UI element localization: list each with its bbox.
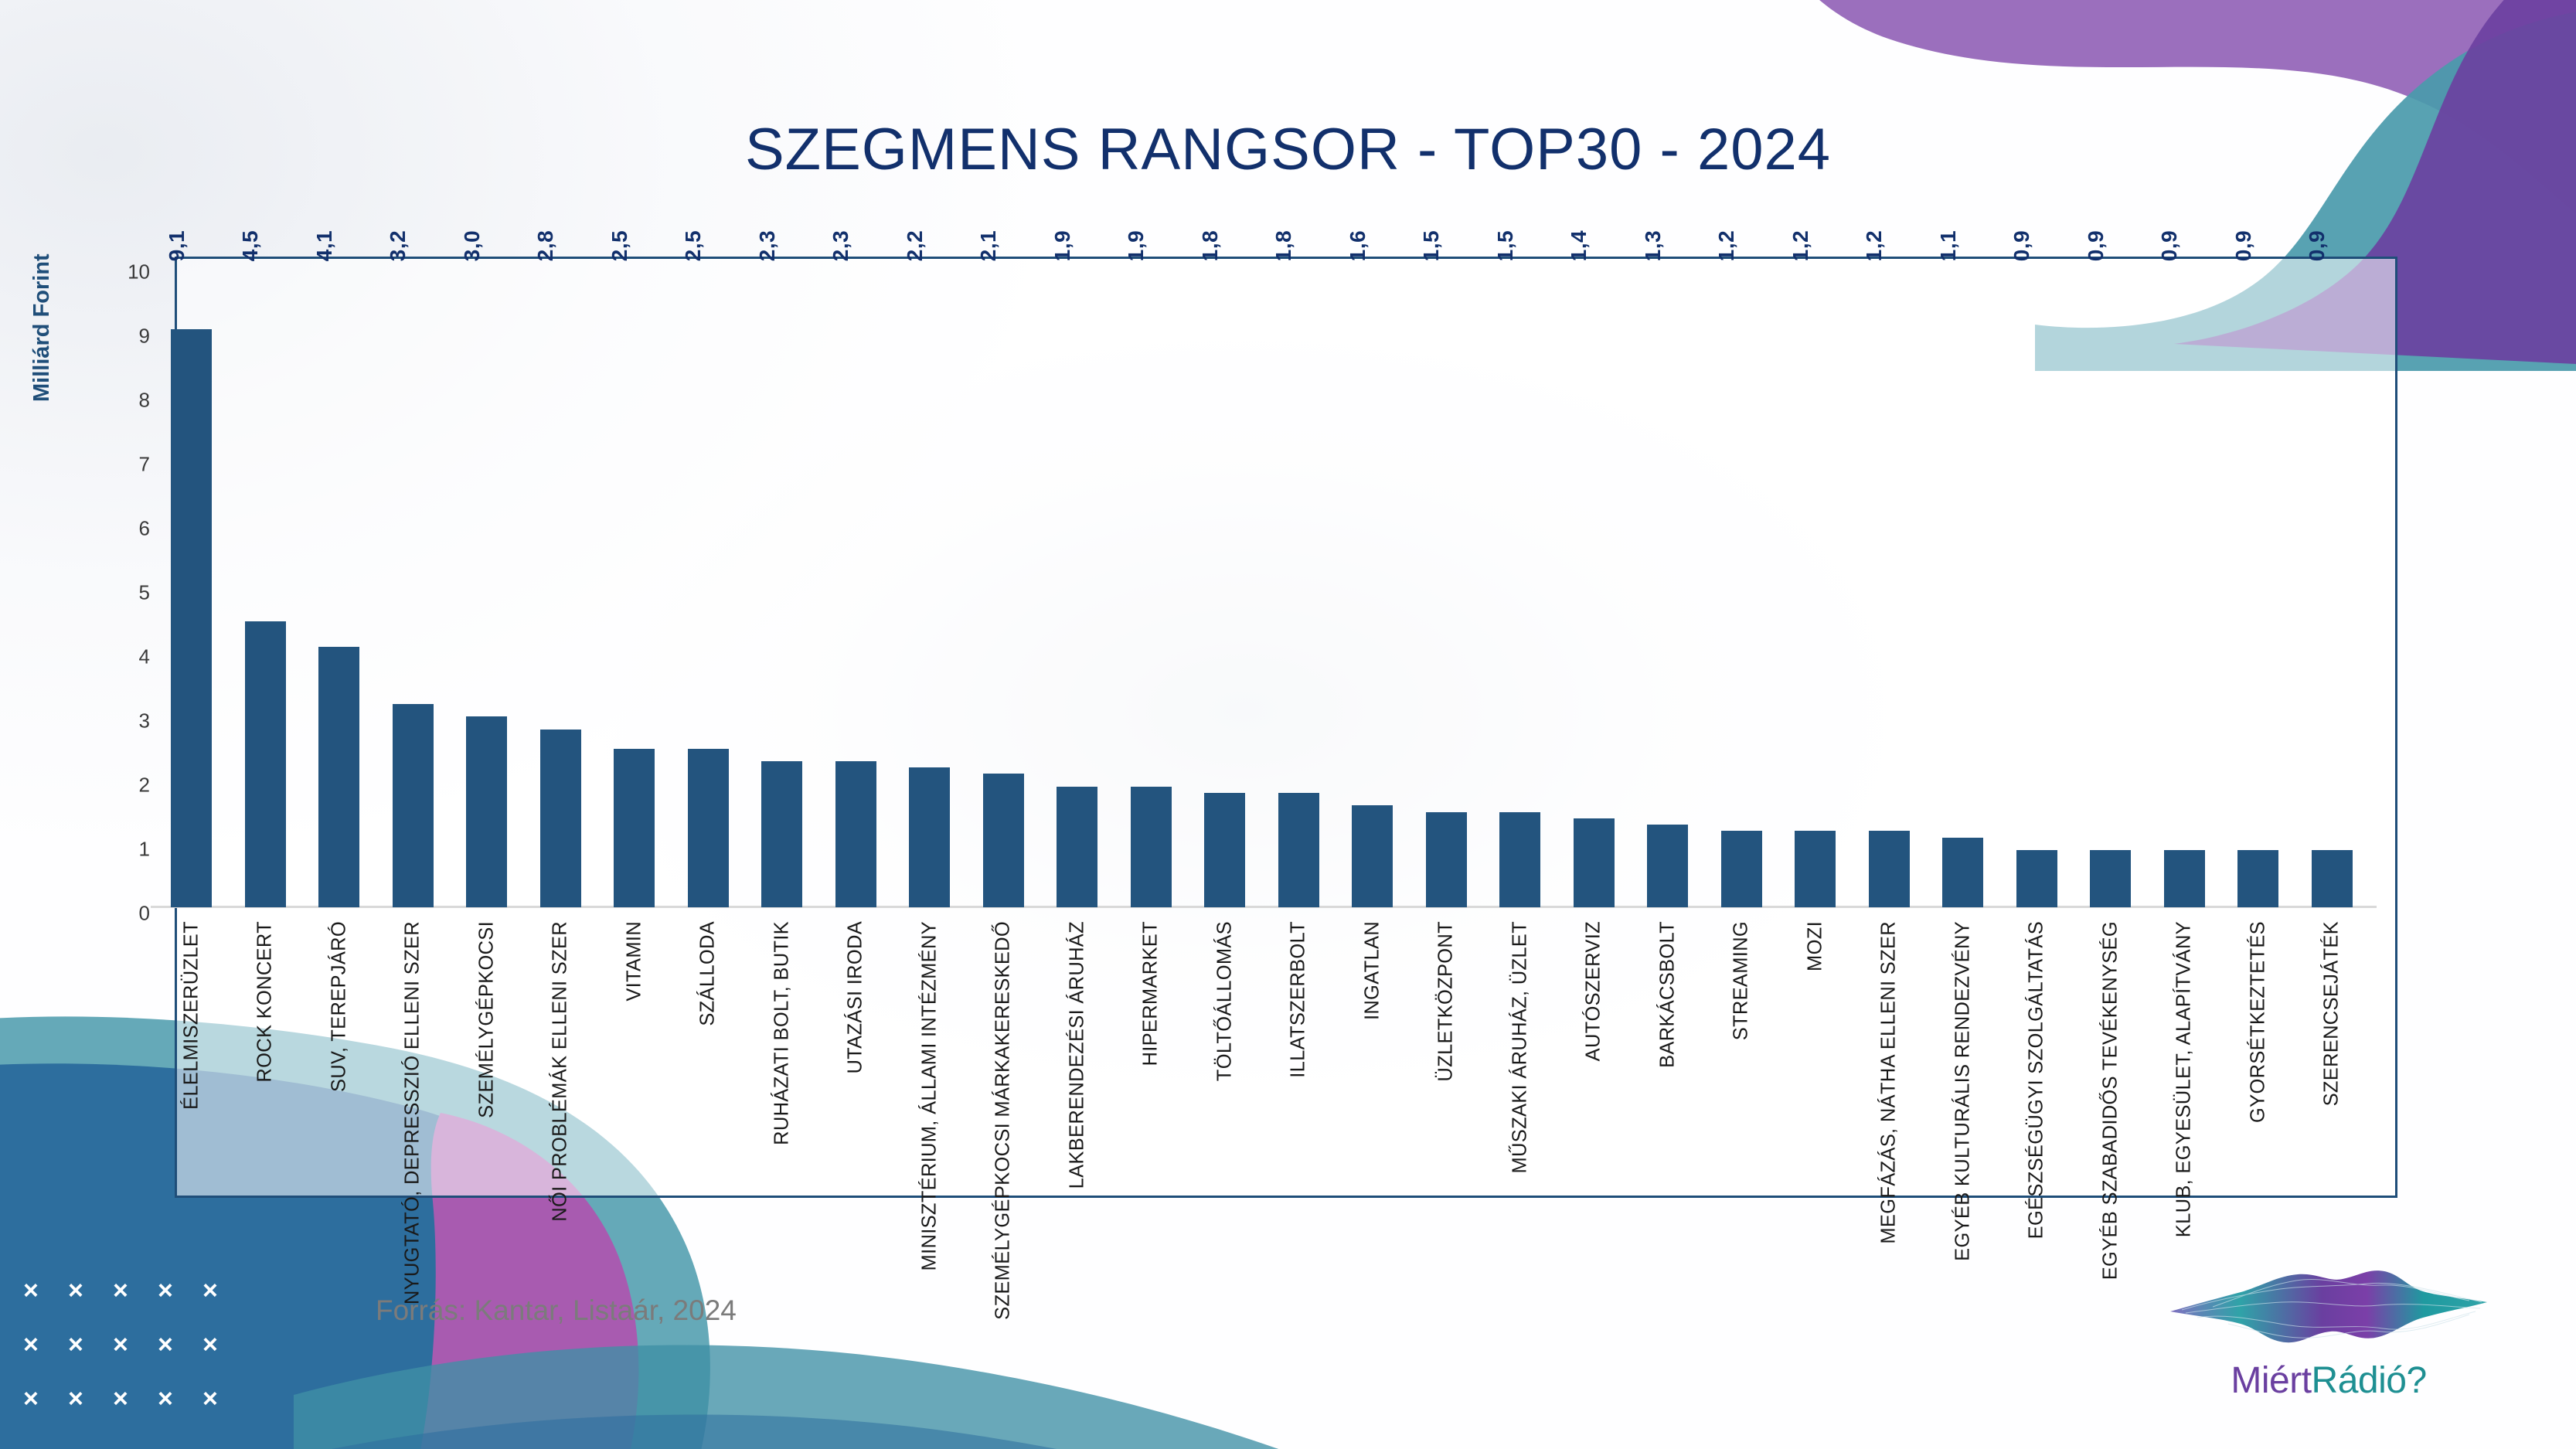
bar-slot: 3,0 xyxy=(450,272,524,907)
x-mark: × xyxy=(113,1318,158,1372)
bar[interactable]: 1,5 xyxy=(1426,812,1467,907)
category-label: ILLATSZERBOLT xyxy=(1288,921,1310,1078)
category-slot: SZEMÉLYGÉPKOCSI MÁRKAKERESKEDŐ xyxy=(967,915,1041,1240)
bar-value-label: 0,9 xyxy=(2305,230,2329,261)
category-label: EGYÉB KULTURÁLIS RENDEZVÉNY xyxy=(1952,921,1974,1261)
category-label: ROCK KONCERT xyxy=(254,921,277,1083)
x-mark: × xyxy=(113,1372,158,1426)
category-slot: SZEMÉLYGÉPKOCSI xyxy=(450,915,524,1240)
bar[interactable]: 1,6 xyxy=(1352,805,1393,907)
category-label: MOZI xyxy=(1804,921,1826,971)
bar-slot: 1,2 xyxy=(1778,272,1853,907)
x-mark: × xyxy=(23,1318,68,1372)
bar[interactable]: 1,9 xyxy=(1057,787,1097,907)
bar[interactable]: 2,5 xyxy=(614,749,655,908)
bar-value-label: 1,8 xyxy=(1271,230,1296,261)
bar-slot: 4,5 xyxy=(229,272,303,907)
bar[interactable]: 1,3 xyxy=(1647,825,1688,907)
x-mark: × xyxy=(23,1264,68,1318)
category-slot: NYUGTATÓ, DEPRESSZIÓ ELLENI SZER xyxy=(376,915,451,1240)
bar[interactable]: 0,9 xyxy=(2090,850,2131,907)
bar-slot: 2,5 xyxy=(672,272,746,907)
category-label: MINISZTÉRIUM, ÁLLAMI INTÉZMÉNY xyxy=(918,921,941,1270)
bar-slot: 1,5 xyxy=(1410,272,1484,907)
bar-value-label: 2,8 xyxy=(533,230,558,261)
bar[interactable]: 0,9 xyxy=(2312,850,2353,907)
y-axis-tick-label: 3 xyxy=(88,709,150,733)
bar-value-label: 2,2 xyxy=(903,230,927,261)
bar-value-label: 1,4 xyxy=(1567,230,1591,261)
x-mark: × xyxy=(202,1372,247,1426)
x-mark: × xyxy=(68,1264,113,1318)
x-marks-grid: × × × × × × × × × × × × × × × xyxy=(23,1264,247,1426)
bar[interactable]: 2,1 xyxy=(983,774,1024,907)
y-axis-label: Milliárd Forint xyxy=(29,253,55,402)
category-label: SZÁLLODA xyxy=(697,921,720,1026)
category-label: SZEMÉLYGÉPKOCSI MÁRKAKERESKEDŐ xyxy=(992,921,1015,1320)
bar-value-label: 1,2 xyxy=(1788,230,1813,261)
category-slot: LAKBERENDEZÉSI ÁRUHÁZ xyxy=(1040,915,1114,1240)
bar-value-label: 4,5 xyxy=(238,230,263,261)
bar-value-label: 1,1 xyxy=(1936,230,1961,261)
x-mark: × xyxy=(113,1264,158,1318)
bar-slot: 1,9 xyxy=(1040,272,1114,907)
category-slot: SZÁLLODA xyxy=(672,915,746,1240)
logo-text-radio: Rádió? xyxy=(2312,1360,2427,1401)
bar[interactable]: 1,5 xyxy=(1499,812,1540,907)
category-label: LAKBERENDEZÉSI ÁRUHÁZ xyxy=(1066,921,1088,1189)
bar-slot: 1,2 xyxy=(1705,272,1779,907)
bar-value-label: 2,5 xyxy=(607,230,632,261)
category-label: RUHÁZATI BOLT, BUTIK xyxy=(771,921,793,1145)
bar-value-label: 3,2 xyxy=(386,230,410,261)
bar-slot: 1,2 xyxy=(1853,272,1927,907)
category-slot: ROCK KONCERT xyxy=(229,915,303,1240)
y-axis-tick-label: 7 xyxy=(88,453,150,477)
bar-slot: 9,1 xyxy=(155,272,229,907)
category-slot: EGÉSZSÉGÜGYI SZOLGÁLTATÁS xyxy=(2000,915,2074,1240)
bar-slot: 1,1 xyxy=(1926,272,2000,907)
bar-value-label: 1,9 xyxy=(1124,230,1148,261)
bar[interactable]: 0,9 xyxy=(2164,850,2205,907)
category-slot: MŰSZAKI ÁRUHÁZ, ÜZLET xyxy=(1483,915,1557,1240)
bar-value-label: 1,6 xyxy=(1346,230,1370,261)
bar[interactable]: 3,2 xyxy=(393,704,434,907)
bar-slot: 2,3 xyxy=(745,272,819,907)
category-slot: ILLATSZERBOLT xyxy=(1262,915,1336,1240)
bar-slot: 2,5 xyxy=(597,272,672,907)
bar-slot: 4,1 xyxy=(302,272,376,907)
bar-slot: 1,9 xyxy=(1114,272,1189,907)
soundwave-icon xyxy=(2166,1264,2491,1364)
category-slot: RUHÁZATI BOLT, BUTIK xyxy=(745,915,819,1240)
category-slot: INGATLAN xyxy=(1336,915,1410,1240)
y-axis-tick-label: 8 xyxy=(88,389,150,413)
category-slot: TÖLTŐÁLLOMÁS xyxy=(1188,915,1262,1240)
bar-slot: 2,8 xyxy=(524,272,598,907)
bar-value-label: 1,8 xyxy=(1198,230,1223,261)
category-label: MŰSZAKI ÁRUHÁZ, ÜZLET xyxy=(1509,921,1531,1174)
bar[interactable]: 1,2 xyxy=(1721,831,1762,907)
bar-series: 9,14,54,13,23,02,82,52,52,32,32,22,11,91… xyxy=(155,272,2369,907)
category-label: STREAMING xyxy=(1730,921,1753,1040)
bar-slot: 0,9 xyxy=(2000,272,2074,907)
category-label: INGATLAN xyxy=(1361,921,1383,1020)
category-slot: SZERENCSEJÁTÉK xyxy=(2295,915,2370,1240)
bar-value-label: 0,9 xyxy=(2084,230,2108,261)
x-mark: × xyxy=(202,1318,247,1372)
bar-value-label: 0,9 xyxy=(2009,230,2034,261)
bar[interactable]: 4,1 xyxy=(318,647,359,907)
x-mark: × xyxy=(158,1264,202,1318)
x-axis-category-labels: ÉLELMISZERÜZLETROCK KONCERTSUV, TEREPJÁR… xyxy=(155,915,2369,1240)
category-label: GYORSÉTKEZTETÉS xyxy=(2247,921,2269,1123)
bar-slot: 2,2 xyxy=(893,272,967,907)
y-axis-tick-label: 1 xyxy=(88,838,150,862)
bar[interactable]: 0,9 xyxy=(2237,850,2278,907)
category-slot: AUTÓSZERVIZ xyxy=(1557,915,1632,1240)
category-label: EGÉSZSÉGÜGYI SZOLGÁLTATÁS xyxy=(2026,921,2048,1239)
bar[interactable]: 1,9 xyxy=(1131,787,1172,907)
category-label: NYUGTATÓ, DEPRESSZIÓ ELLENI SZER xyxy=(402,921,424,1304)
bar-value-label: 4,1 xyxy=(312,230,337,261)
bar-slot: 0,9 xyxy=(2295,272,2370,907)
bar-slot: 1,8 xyxy=(1188,272,1262,907)
category-label: HIPERMARKET xyxy=(1140,921,1162,1066)
category-slot: GYORSÉTKEZTETÉS xyxy=(2221,915,2295,1240)
category-label: ÉLELMISZERÜZLET xyxy=(180,921,202,1110)
bar[interactable]: 1,8 xyxy=(1278,793,1319,907)
bar[interactable]: 1,2 xyxy=(1795,831,1836,907)
category-label: TÖLTŐÁLLOMÁS xyxy=(1213,921,1236,1081)
bar[interactable]: 4,5 xyxy=(245,621,286,907)
bar[interactable]: 1,2 xyxy=(1869,831,1910,907)
bar-value-label: 2,1 xyxy=(976,230,1001,261)
category-slot: HIPERMARKET xyxy=(1114,915,1189,1240)
source-note: Forrás: Kantar, Listaár, 2024 xyxy=(376,1294,737,1327)
bar-value-label: 3,0 xyxy=(460,230,485,261)
bar-slot: 1,8 xyxy=(1262,272,1336,907)
category-label: SZEMÉLYGÉPKOCSI xyxy=(475,921,498,1118)
brand-logo[interactable]: MiértRádió? xyxy=(2166,1264,2491,1434)
bar-slot: 1,6 xyxy=(1336,272,1410,907)
bar-slot: 0,9 xyxy=(2148,272,2222,907)
y-axis-tick-label: 0 xyxy=(88,902,150,926)
category-slot: UTAZÁSI IRODA xyxy=(819,915,893,1240)
bar-slot: 0,9 xyxy=(2074,272,2148,907)
y-axis-tick-label: 2 xyxy=(88,774,150,798)
y-axis-tick-label: 5 xyxy=(88,581,150,605)
category-slot: VITAMIN xyxy=(597,915,672,1240)
bar[interactable]: 9,1 xyxy=(171,329,212,907)
bar-value-label: 1,5 xyxy=(1493,230,1518,261)
bar-value-label: 1,2 xyxy=(1862,230,1887,261)
bar[interactable]: 1,4 xyxy=(1574,818,1615,907)
category-label: BARKÁCSBOLT xyxy=(1656,921,1679,1068)
slide-canvas: × × × × × × × × × × × × × × × SZEGMENS R… xyxy=(0,0,2576,1449)
bar-value-label: 9,1 xyxy=(165,230,189,261)
category-label: SZERENCSEJÁTÉK xyxy=(2321,921,2343,1106)
category-label: VITAMIN xyxy=(623,921,645,1002)
category-slot: KLUB, EGYESÜLET, ALAPÍTVÁNY xyxy=(2148,915,2222,1240)
y-axis-tick-label: 4 xyxy=(88,645,150,669)
bar[interactable]: 2,8 xyxy=(540,730,581,907)
bar-value-label: 1,9 xyxy=(1050,230,1075,261)
category-slot: NŐI PROBLÉMÁK ELLENI SZER xyxy=(524,915,598,1240)
category-slot: BARKÁCSBOLT xyxy=(1631,915,1705,1240)
logo-text-miert: Miért xyxy=(2231,1360,2311,1401)
bar-slot: 0,9 xyxy=(2221,272,2295,907)
category-label: NŐI PROBLÉMÁK ELLENI SZER xyxy=(550,921,572,1222)
category-label: UTAZÁSI IRODA xyxy=(845,921,867,1074)
bar-value-label: 0,9 xyxy=(2157,230,2182,261)
bar-slot: 2,1 xyxy=(967,272,1041,907)
bar-slot: 3,2 xyxy=(376,272,451,907)
bar-value-label: 2,5 xyxy=(681,230,706,261)
bar-slot: 1,3 xyxy=(1631,272,1705,907)
x-mark: × xyxy=(158,1372,202,1426)
logo-wordmark: MiértRádió? xyxy=(2166,1359,2491,1402)
bar-value-label: 1,3 xyxy=(1641,230,1666,261)
x-mark: × xyxy=(23,1372,68,1426)
bar-slot: 1,4 xyxy=(1557,272,1632,907)
x-mark: × xyxy=(68,1372,113,1426)
category-label: ÜZLETKÖZPONT xyxy=(1435,921,1458,1082)
category-label: MEGFÁZÁS, NÁTHA ELLENI SZER xyxy=(1878,921,1901,1244)
category-slot: EGYÉB SZABADIDŐS TEVÉKENYSÉG xyxy=(2074,915,2148,1240)
category-slot: STREAMING xyxy=(1705,915,1779,1240)
y-axis-ticks: 109876543210 xyxy=(80,272,150,913)
category-slot: MINISZTÉRIUM, ÁLLAMI INTÉZMÉNY xyxy=(893,915,967,1240)
category-slot: MOZI xyxy=(1778,915,1853,1240)
y-axis-tick-label: 6 xyxy=(88,517,150,541)
category-label: KLUB, EGYESÜLET, ALAPÍTVÁNY xyxy=(2173,921,2196,1237)
bar[interactable]: 1,8 xyxy=(1204,793,1245,907)
bar[interactable]: 1,1 xyxy=(1942,838,1983,907)
category-slot: SUV, TEREPJÁRÓ xyxy=(302,915,376,1240)
x-mark: × xyxy=(158,1318,202,1372)
bar-value-label: 1,2 xyxy=(1714,230,1739,261)
x-mark: × xyxy=(68,1318,113,1372)
bar-value-label: 2,3 xyxy=(755,230,780,261)
x-mark: × xyxy=(202,1264,247,1318)
page-title: SZEGMENS RANGSOR - TOP30 - 2024 xyxy=(0,116,2576,183)
bar[interactable]: 2,3 xyxy=(761,761,802,907)
category-label: EGYÉB SZABADIDŐS TEVÉKENYSÉG xyxy=(2099,921,2122,1280)
category-slot: MEGFÁZÁS, NÁTHA ELLENI SZER xyxy=(1853,915,1927,1240)
bar[interactable]: 2,2 xyxy=(909,767,950,907)
y-axis-tick-label: 9 xyxy=(88,325,150,349)
bar[interactable]: 3,0 xyxy=(466,716,507,907)
category-slot: EGYÉB KULTURÁLIS RENDEZVÉNY xyxy=(1926,915,2000,1240)
bar[interactable]: 0,9 xyxy=(2016,850,2057,907)
bar-value-label: 0,9 xyxy=(2231,230,2256,261)
bar[interactable]: 2,3 xyxy=(835,761,876,907)
bar-slot: 2,3 xyxy=(819,272,893,907)
y-axis-tick-label: 10 xyxy=(88,260,150,284)
category-label: SUV, TEREPJÁRÓ xyxy=(328,921,350,1092)
bar[interactable]: 2,5 xyxy=(688,749,729,908)
bar-slot: 1,5 xyxy=(1483,272,1557,907)
category-slot: ÉLELMISZERÜZLET xyxy=(155,915,229,1240)
bar-value-label: 2,3 xyxy=(829,230,853,261)
bar-value-label: 1,5 xyxy=(1419,230,1444,261)
category-slot: ÜZLETKÖZPONT xyxy=(1410,915,1484,1240)
category-label: AUTÓSZERVIZ xyxy=(1583,921,1605,1061)
